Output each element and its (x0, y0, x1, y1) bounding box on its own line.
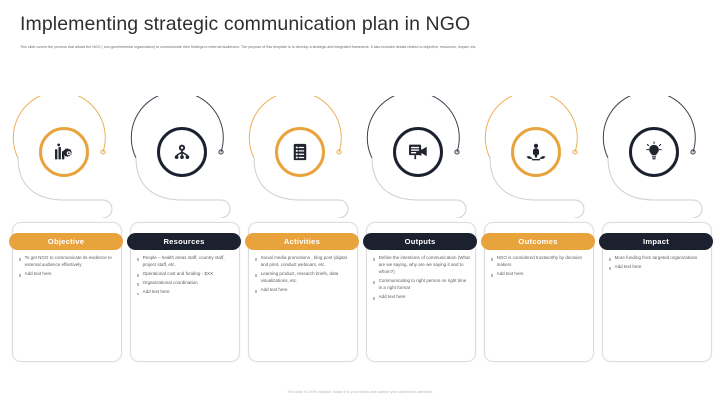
bullet-label: Social media promotions , blog post (dig… (261, 255, 352, 269)
list-item: People – health areas staff, country sta… (137, 255, 234, 269)
process-column-impact: Impact More funding from targeted organi… (598, 96, 712, 368)
list-item: Organizational coordination (137, 280, 234, 287)
bullet-label: Operational cost and funding - $XX (143, 271, 213, 278)
card-header-bar: Outcomes (481, 233, 595, 250)
bullet-label: Communicating to right person on right t… (379, 278, 470, 292)
icon-ring (275, 127, 325, 177)
icon-ring (393, 127, 443, 177)
content-card[interactable]: Activities Social media promotions , blo… (248, 222, 358, 362)
bullet-icon (19, 274, 21, 276)
list-item: Add text here (255, 287, 352, 294)
process-column-objective: Objective To get NGO to communicate its … (8, 96, 122, 368)
card-bullet-list: Define the intentions of communication (… (373, 255, 470, 301)
bullet-icon (255, 290, 257, 292)
page-title: Implementing strategic communication pla… (20, 12, 700, 36)
icon-ring (511, 127, 561, 177)
process-column-outcomes: Outcomes NGO is considered trustworthy b… (480, 96, 594, 368)
list-item: Define the intentions of communication (… (373, 255, 470, 276)
list-item: To get NGO to communicate its evidence t… (19, 255, 116, 269)
bullet-icon (137, 283, 139, 285)
icon-badge-area (598, 96, 712, 218)
bullet-icon (491, 258, 493, 260)
card-title: Outputs (405, 237, 436, 246)
process-column-outputs: Outputs Define the intentions of communi… (362, 96, 476, 368)
hands-person-icon (525, 141, 547, 163)
bullet-label: Add text here (143, 289, 170, 296)
list-item: Operational cost and funding - $XX (137, 271, 234, 278)
bullet-label: NGO is considered trustworthy by decisio… (497, 255, 588, 269)
icon-ring (39, 127, 89, 177)
bullet-icon (491, 274, 493, 276)
card-bullet-list: NGO is considered trustworthy by decisio… (491, 255, 588, 278)
content-card[interactable]: Objective To get NGO to communicate its … (12, 222, 122, 362)
list-item: Add text here (137, 289, 234, 296)
list-item: Add text here (373, 294, 470, 301)
card-title: Activities (284, 237, 320, 246)
card-header-bar: Resources (127, 233, 241, 250)
list-item: Learning product, research briefs, data … (255, 271, 352, 285)
list-item: NGO is considered trustworthy by decisio… (491, 255, 588, 269)
bullet-label: To get NGO to communicate its evidence t… (25, 255, 116, 269)
card-title: Impact (643, 237, 669, 246)
process-column-resources: Resources People – health areas staff, c… (126, 96, 240, 368)
icon-badge-area (8, 96, 122, 218)
icon-badge-area (362, 96, 476, 218)
bar-chart-gear-icon (53, 141, 75, 163)
checklist-document-icon (290, 141, 310, 163)
card-header-bar: Activities (245, 233, 359, 250)
card-title: Outcomes (518, 237, 557, 246)
bullet-icon (373, 281, 375, 283)
slide-header: Implementing strategic communication pla… (20, 12, 700, 51)
bullet-icon (609, 267, 611, 269)
bullet-icon (609, 258, 611, 260)
bullet-icon (255, 274, 257, 276)
bullet-icon (19, 258, 21, 260)
card-bullet-list: People – health areas staff, country sta… (137, 255, 234, 296)
content-card[interactable]: Impact More funding from targeted organi… (602, 222, 712, 362)
bullet-label: Add text here (379, 294, 406, 301)
content-card[interactable]: Outputs Define the intentions of communi… (366, 222, 476, 362)
bullet-icon (373, 258, 375, 260)
bullet-icon (137, 274, 139, 276)
lightbulb-idea-icon (643, 141, 665, 163)
process-columns: Objective To get NGO to communicate its … (8, 96, 712, 368)
footer-note: This slide is 100% editable. Adapt it to… (0, 390, 720, 394)
card-bullet-list: To get NGO to communicate its evidence t… (19, 255, 116, 278)
list-item: Add text here (19, 271, 116, 278)
icon-badge-area (480, 96, 594, 218)
list-item: Add text here (491, 271, 588, 278)
list-item: Add text here (609, 264, 706, 271)
card-title: Objective (48, 237, 84, 246)
bullet-label: People – health areas staff, country sta… (143, 255, 234, 269)
slide-canvas: Implementing strategic communication pla… (0, 0, 720, 404)
people-network-icon (171, 141, 193, 163)
page-subtitle: This slide covers the process that allow… (20, 44, 698, 51)
bullet-icon (373, 297, 375, 299)
bullet-label: Add text here (261, 287, 288, 294)
card-header-bar: Outputs (363, 233, 477, 250)
bullet-label: Learning product, research briefs, data … (261, 271, 352, 285)
bullet-label: Organizational coordination (143, 280, 198, 287)
bullet-label: Add text here (25, 271, 52, 278)
content-card[interactable]: Outcomes NGO is considered trustworthy b… (484, 222, 594, 362)
card-bullet-list: More funding from targeted organizations… (609, 255, 706, 271)
bullet-icon (255, 258, 257, 260)
presentation-megaphone-icon (407, 141, 429, 163)
card-title: Resources (163, 237, 204, 246)
content-card[interactable]: Resources People – health areas staff, c… (130, 222, 240, 362)
bullet-label: Add text here (615, 264, 642, 271)
list-item: More funding from targeted organizations (609, 255, 706, 262)
card-header-bar: Impact (599, 233, 713, 250)
list-item: Social media promotions , blog post (dig… (255, 255, 352, 269)
bullet-label: More funding from targeted organizations (615, 255, 698, 262)
card-header-bar: Objective (9, 233, 123, 250)
card-bullet-list: Social media promotions , blog post (dig… (255, 255, 352, 294)
process-column-activities: Activities Social media promotions , blo… (244, 96, 358, 368)
icon-badge-area (244, 96, 358, 218)
bullet-label: Add text here (497, 271, 524, 278)
list-item: Communicating to right person on right t… (373, 278, 470, 292)
icon-badge-area (126, 96, 240, 218)
bullet-label: Define the intentions of communication (… (379, 255, 470, 276)
bullet-icon (137, 258, 139, 260)
icon-ring (629, 127, 679, 177)
bullet-icon (137, 293, 139, 295)
icon-ring (157, 127, 207, 177)
